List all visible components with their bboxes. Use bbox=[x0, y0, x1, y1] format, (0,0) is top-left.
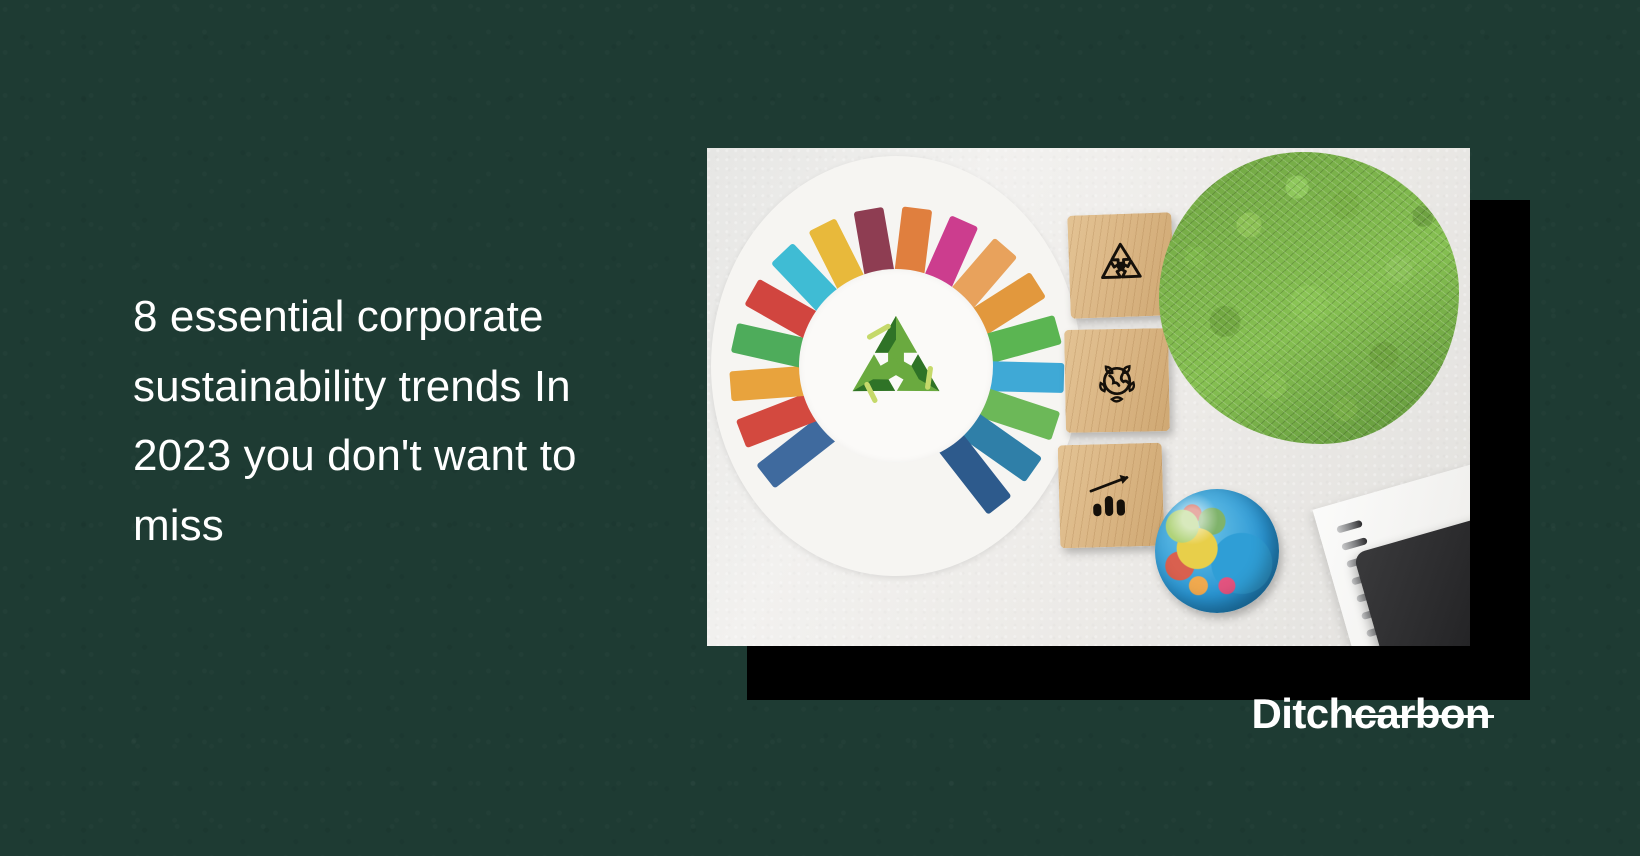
logo-prefix: Ditch bbox=[1252, 690, 1354, 737]
earth-leaves-icon bbox=[1087, 351, 1146, 410]
growth-bar-chart-icon bbox=[1081, 466, 1140, 525]
block-growth bbox=[1058, 443, 1165, 549]
block-earth bbox=[1064, 328, 1170, 433]
hero-photo bbox=[707, 148, 1470, 646]
globe bbox=[1155, 489, 1279, 613]
brand-logo[interactable]: Ditchcarbon bbox=[1252, 690, 1490, 738]
sdg-wheel-plate bbox=[711, 156, 1081, 576]
hero-image-composition bbox=[707, 148, 1470, 646]
logo-struck-word: carbon bbox=[1354, 690, 1490, 737]
recycle-icon bbox=[1091, 236, 1151, 296]
recycling-symbol-icon bbox=[830, 300, 962, 432]
page-title: 8 essential corporate sustainability tre… bbox=[133, 282, 663, 560]
sustainability-banner: 8 essential corporate sustainability tre… bbox=[0, 0, 1640, 856]
